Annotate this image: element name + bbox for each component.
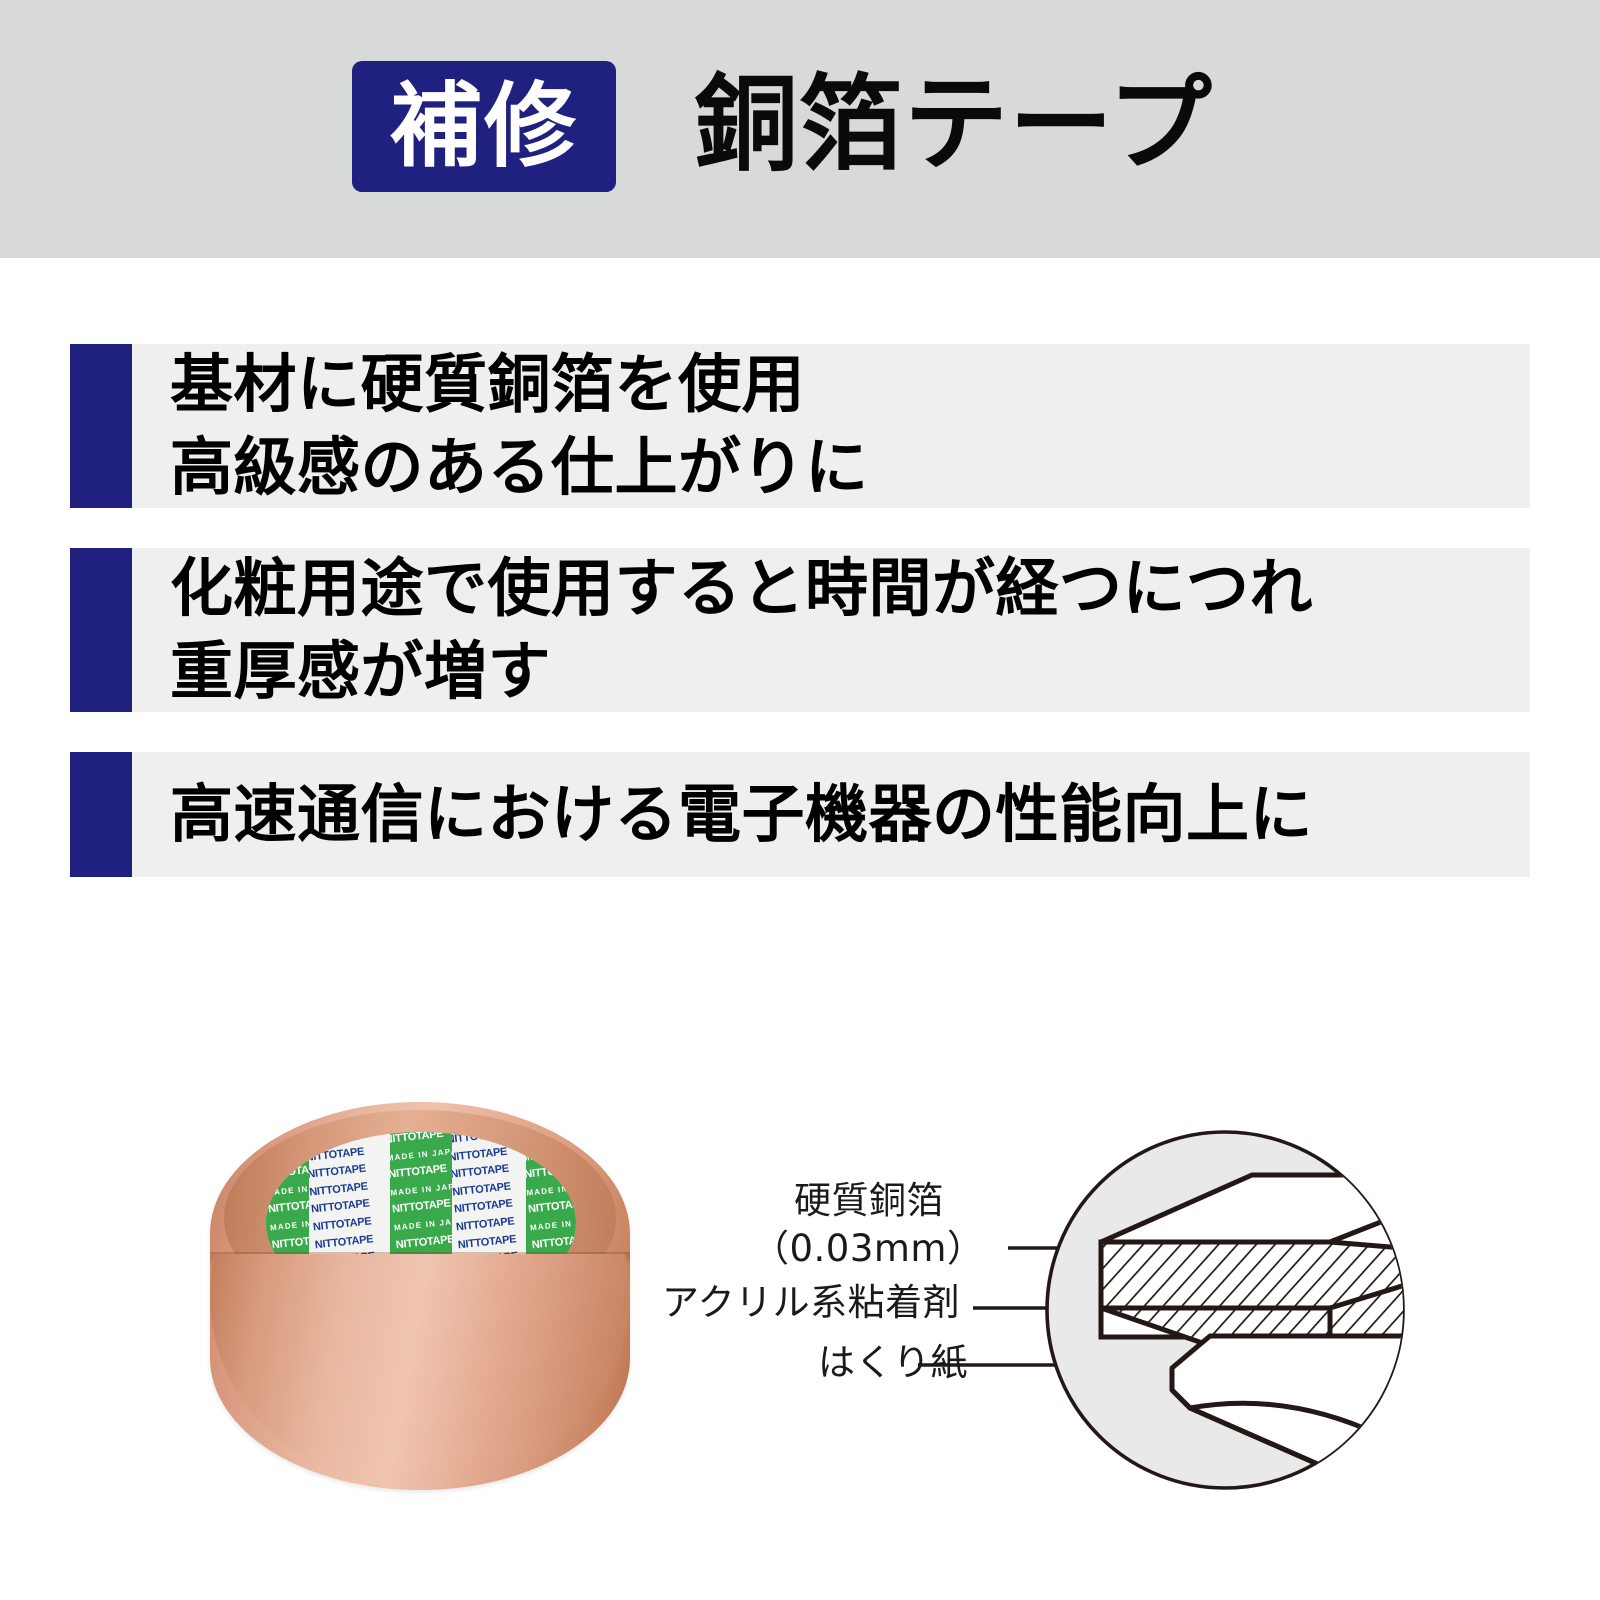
origin-text: MADE IN JAPAN	[266, 1145, 309, 1162]
feature-accent-bar	[70, 344, 132, 508]
feature-row: 高速通信における電子機器の性能向上に	[70, 752, 1530, 877]
feature-line: 化粧用途で使用すると時間が経つにつれ	[170, 547, 1530, 630]
feature-text: 高速通信における電子機器の性能向上に	[132, 752, 1530, 877]
brand-text: NITTOTAPE	[311, 1198, 371, 1216]
page-header: 補修 銅箔テープ	[0, 0, 1600, 258]
feature-accent-bar	[70, 752, 132, 877]
tape-core-stripe-text: NITTOTAPE NITTOTAPE NITTOTAPE NITTOTAPE …	[309, 1132, 390, 1272]
origin-text: MADE IN JAPAN	[390, 1145, 452, 1162]
brand-text: NITTOTAPE	[390, 1163, 447, 1181]
label-hard-copper-foil: 硬質銅箔	[794, 1170, 944, 1224]
brand-text: NITTOTAPE	[526, 1163, 576, 1181]
brand-text: NITTOTAPE	[528, 1198, 576, 1216]
brand-text: NITTOTAPE	[452, 1163, 509, 1181]
feature-line: 高速通信における電子機器の性能向上に	[170, 773, 1530, 856]
brand-text: NITTOTAPE	[315, 1233, 375, 1251]
origin-text: MADE IN JAPAN	[526, 1180, 576, 1197]
brand-text: NITTOTAPE	[266, 1163, 309, 1181]
tape-roll-image: NITTOTAPE MADE IN JAPAN NITTOTAPE MADE I…	[210, 1102, 630, 1492]
feature-text: 化粧用途で使用すると時間が経つにつれ 重厚感が増す	[132, 548, 1530, 712]
tape-roll-body: NITTOTAPE MADE IN JAPAN NITTOTAPE MADE I…	[210, 1102, 630, 1490]
origin-text: MADE IN JAPAN	[270, 1215, 310, 1232]
brand-text: NITTOTAPE	[266, 1132, 309, 1146]
feature-accent-bar	[70, 548, 132, 712]
brand-text: NITTOTAPE	[309, 1145, 365, 1163]
brand-text: NITTOTAPE	[454, 1198, 514, 1216]
tape-core-stripe-text: NITTOTAPE MADE IN JAPAN NITTOTAPE MADE I…	[390, 1132, 452, 1254]
origin-text: MADE IN JAPAN	[266, 1180, 309, 1197]
origin-text: MADE IN JAPAN	[394, 1215, 452, 1232]
feature-row: 基材に硬質銅箔を使用 高級感のある仕上がりに	[70, 344, 1530, 508]
brand-text: NITTOTAPE	[395, 1233, 452, 1251]
brand-text: NITTOTAPE	[526, 1132, 576, 1146]
brand-text: NITTOTAPE	[268, 1198, 310, 1216]
product-illustration-area: NITTOTAPE MADE IN JAPAN NITTOTAPE MADE I…	[0, 1060, 1600, 1600]
brand-text: NITTOTAPE	[309, 1180, 368, 1198]
brand-text: NITTOTAPE	[457, 1233, 517, 1251]
brand-text: NITTOTAPE	[452, 1132, 506, 1146]
tape-core-stripe-text: NITTOTAPE NITTOTAPE NITTOTAPE NITTOTAPE …	[452, 1132, 526, 1272]
brand-text: NITTOTAPE	[532, 1233, 576, 1251]
tape-core-stripe-text: NITTOTAPE MADE IN JAPAN NITTOTAPE MADE I…	[266, 1132, 309, 1254]
brand-text: NITTOTAPE	[313, 1215, 373, 1233]
brand-text: NITTOTAPE	[390, 1132, 444, 1146]
brand-text: NITTOTAPE	[455, 1215, 515, 1233]
feature-line: 高級感のある仕上がりに	[170, 426, 1530, 509]
brand-text: NITTOTAPE	[271, 1233, 309, 1251]
feature-row: 化粧用途で使用すると時間が経つにつれ 重厚感が増す	[70, 548, 1530, 712]
cross-section-diagram: 硬質銅箔 （0.03mm） アクリル系粘着剤 はくり紙	[630, 1060, 1490, 1600]
category-badge: 補修	[352, 61, 616, 192]
brand-text: NITTOTAPE	[452, 1145, 508, 1163]
page-title: 銅箔テープ	[694, 58, 1213, 191]
diagram-svg	[630, 1060, 1490, 1600]
category-badge-label: 補修	[390, 81, 578, 173]
brand-text: NITTOTAPE	[392, 1198, 452, 1216]
label-hard-copper-foil-thickness: （0.03mm）	[752, 1218, 984, 1272]
feature-line: 基材に硬質銅箔を使用	[170, 343, 1530, 426]
origin-text: MADE IN JAPAN	[526, 1145, 576, 1162]
label-release-paper: はくり紙	[818, 1332, 968, 1386]
feature-line: 重厚感が増す	[170, 630, 1530, 713]
label-acrylic-adhesive: アクリル系粘着剤	[662, 1272, 960, 1326]
origin-text: MADE IN JAPAN	[390, 1180, 452, 1197]
brand-text: NITTOTAPE	[309, 1163, 366, 1181]
brand-text: NITTOTAPE	[452, 1180, 511, 1198]
tape-core-stripe-text: NITTOTAPE MADE IN JAPAN NITTOTAPE MADE I…	[526, 1132, 576, 1254]
feature-text: 基材に硬質銅箔を使用 高級感のある仕上がりに	[132, 344, 1530, 508]
tape-roll-front-face	[210, 1254, 630, 1490]
origin-text: MADE IN JAPAN	[530, 1215, 576, 1232]
brand-text: NITTOTAPE	[309, 1132, 363, 1146]
